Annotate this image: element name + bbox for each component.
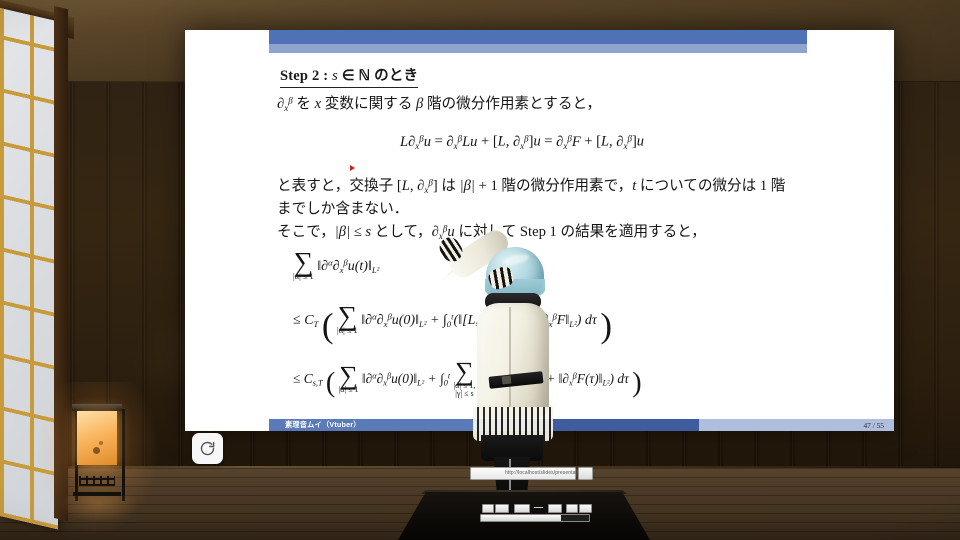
lantern-paper-panel: [77, 411, 117, 465]
lantern-cap: [72, 404, 122, 411]
scene-root: Step 2 : s ∈ ℕ のとき ∂xβ を x 変数に関する β 階の微分…: [0, 0, 960, 540]
slide-footer-author: 素理音ムイ（Vtuber）: [285, 420, 361, 430]
player-button-next[interactable]: [548, 504, 562, 513]
player-button-prev[interactable]: [482, 504, 494, 513]
math-dx-beta: ∂xβ: [277, 96, 293, 112]
player-separator: [534, 507, 543, 509]
p3-b: として，: [371, 224, 432, 240]
slide-step-title: Step 2 : s ∈ ℕ のとき: [280, 64, 418, 88]
refresh-icon: [199, 440, 216, 457]
player-progress-fill: [481, 515, 561, 521]
step-title-suffix: のとき: [370, 68, 418, 84]
slide-page-number: 47 / 55: [863, 421, 884, 430]
avatar-coat: [477, 303, 549, 418]
player-button-full[interactable]: [579, 504, 592, 513]
player-progress-track[interactable]: [480, 514, 590, 522]
player-button-pause[interactable]: [514, 504, 530, 513]
p1-post: 階の微分作用素とすると，: [423, 96, 601, 112]
vtuber-avatar: [455, 235, 575, 505]
p2-commutator: [L, ∂xβ]: [397, 178, 438, 194]
slide-paragraph-2-line-1: と表すと，交換子 [L, ∂xβ] は |β| + 1 階の微分作用素で，t に…: [277, 175, 877, 198]
address-value: http://localhost/slides/presentation: [505, 470, 584, 476]
slide-header-band-light: [269, 44, 807, 53]
address-bar-widget[interactable]: http://localhost/slides/presentation: [470, 467, 592, 479]
p2-absbeta: |β|: [460, 178, 475, 194]
step-title-sep: :: [319, 68, 332, 84]
estimate-line-1: ∑|α| ≤ 1 ‖∂α∂xβu(t)‖L²: [293, 251, 379, 282]
avatar-belt-buckle: [502, 376, 512, 385]
display-equation-1: L∂xβu = ∂xβLu + [L, ∂xβ]u = ∂xβF + [L, ∂…: [400, 133, 644, 151]
p1-mid: 変数に関する: [321, 96, 416, 112]
lantern-floor-glow: [58, 496, 138, 522]
reload-button[interactable]: [192, 433, 223, 464]
andon-lantern: [72, 404, 122, 502]
address-go-button[interactable]: [578, 467, 593, 480]
p2-a: と表すと，交換子: [277, 178, 397, 194]
p2-e: についての微分は 1 階: [636, 178, 785, 194]
player-button-play[interactable]: [495, 504, 509, 513]
pointer-marker-icon: [350, 165, 355, 171]
step-title-in: ∈: [338, 68, 358, 84]
media-player-bar[interactable]: [480, 504, 592, 524]
p2-b: は: [438, 178, 460, 194]
address-input[interactable]: http://localhost/slides/presentation: [470, 467, 576, 480]
p3-a: そこで，: [277, 224, 335, 240]
sum-index-2: |α| ≤ 1: [337, 327, 358, 336]
step-title-prefix: Step 2: [280, 68, 319, 84]
p3-cond: |β| ≤ s: [335, 224, 371, 240]
avatar-coat-seam: [509, 307, 511, 407]
step-title-N: ℕ: [358, 68, 370, 84]
sum-index-3: |α| ≤ 1: [339, 386, 359, 394]
sum-symbol-3: ∑|α| ≤ 1: [339, 365, 359, 395]
sum-symbol-2: ∑|α| ≤ 1: [337, 305, 358, 336]
slide-paragraph-2-line-3: そこで，|β| ≤ s として，∂xβu に対して Step 1 の結果を適用す…: [277, 221, 877, 244]
p1-pre: を: [293, 96, 315, 112]
player-button-stop[interactable]: [566, 504, 578, 513]
slide-paragraph-1: ∂xβ を x 変数に関する β 階の微分作用素とすると，: [277, 93, 837, 116]
sum-index-1: |α| ≤ 1: [293, 273, 314, 282]
lantern-lattice: [79, 476, 115, 486]
slide-paragraph-2-line-2: までしか含まない．: [277, 198, 408, 221]
sum-symbol-1: ∑|α| ≤ 1: [293, 251, 314, 282]
slide-header-band: [269, 30, 807, 44]
p2-c: + 1 階の微分作用素で，: [475, 178, 632, 194]
